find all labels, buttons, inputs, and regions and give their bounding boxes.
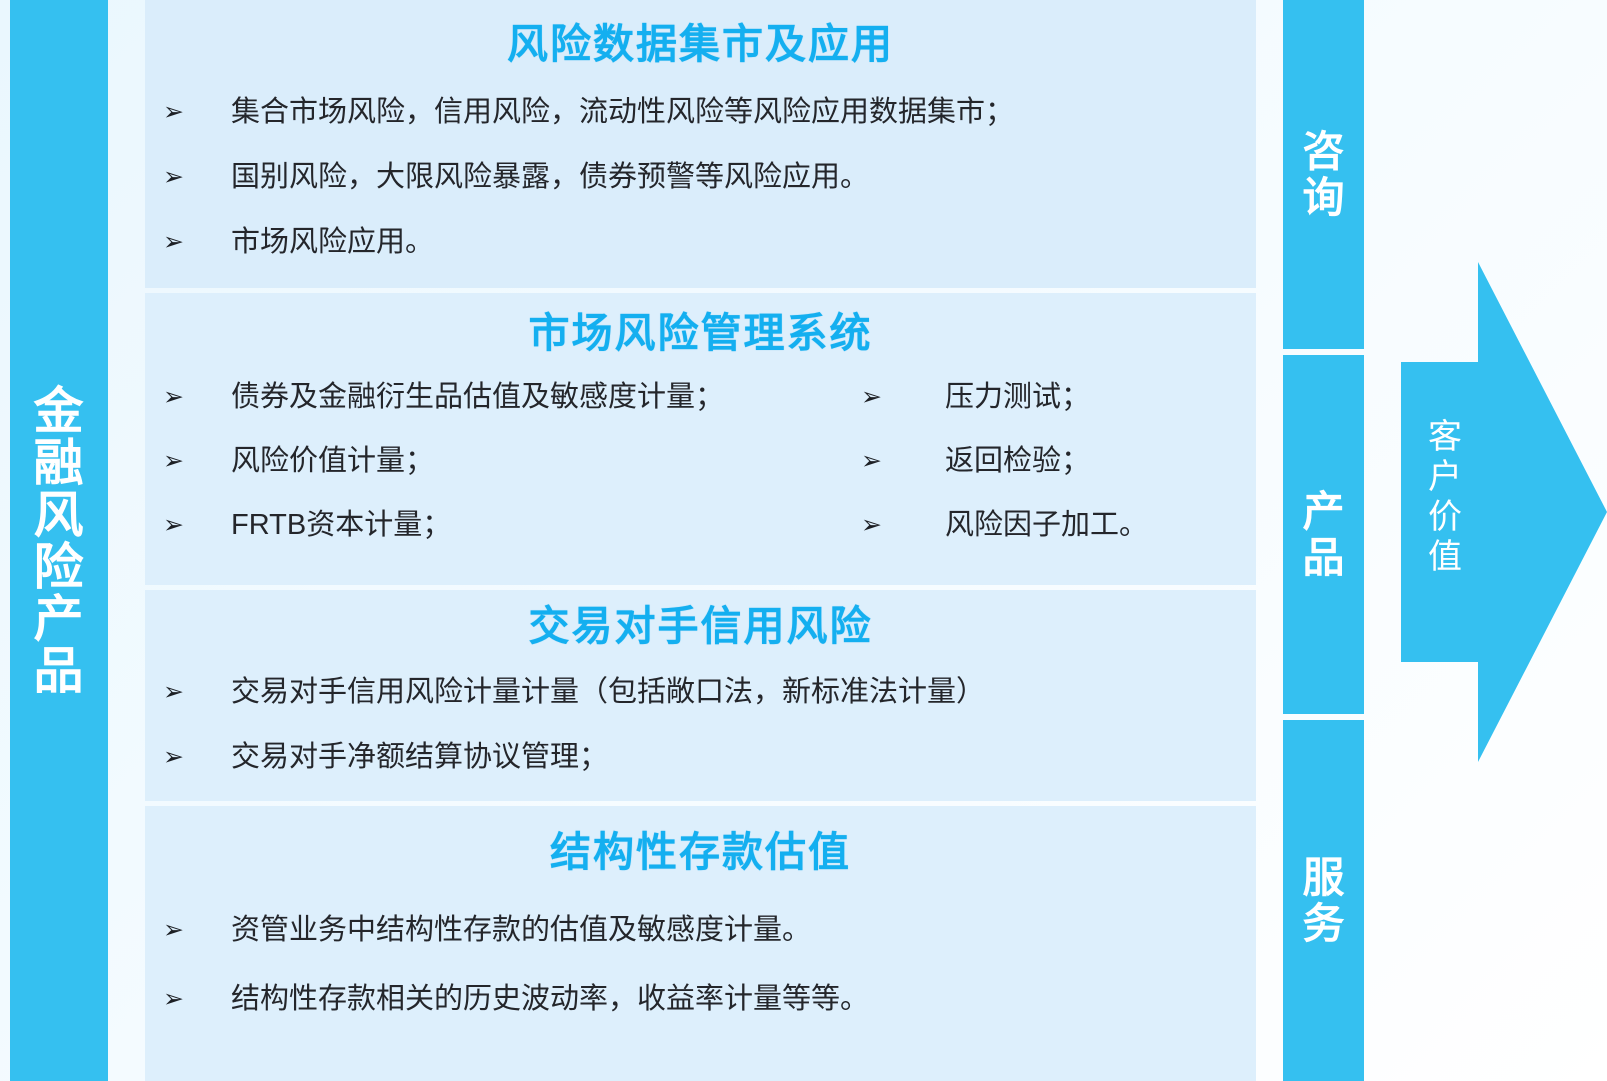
arrow-bullet-icon: ➢ bbox=[145, 162, 231, 192]
bullet-list-left: ➢ 债券及金融衍生品估值及敏感度计量； ➢ 风险价值计量； ➢ FRTB资本计量… bbox=[145, 380, 845, 571]
arrow-bullet-icon: ➢ bbox=[145, 510, 231, 540]
list-item-text: 交易对手净额结算协议管理； bbox=[231, 740, 1256, 775]
left-category-bar: 金融风险产品 bbox=[10, 0, 108, 1081]
panel-structured-deposit-valuation: 结构性存款估值 ➢ 资管业务中结构性存款的估值及敏感度计量。 ➢ 结构性存款相关… bbox=[145, 806, 1256, 1081]
slide-canvas: 金融风险产品 风险数据集市及应用 ➢ 集合市场风险，信用风险，流动性风险等风险应… bbox=[0, 0, 1607, 1081]
panel-title: 结构性存款估值 bbox=[145, 806, 1256, 875]
panel-market-risk-system: 市场风险管理系统 ➢ 债券及金融衍生品估值及敏感度计量； ➢ 风险价值计量； ➢… bbox=[145, 293, 1256, 585]
panel-risk-data-mart: 风险数据集市及应用 ➢ 集合市场风险，信用风险，流动性风险等风险应用数据集市； … bbox=[145, 0, 1256, 288]
stage-label: 咨询 bbox=[1301, 129, 1347, 220]
list-item-text: 市场风险应用。 bbox=[231, 225, 1256, 260]
list-item: ➢ 国别风险，大限风险暴露，债券预警等风险应用。 bbox=[145, 160, 1256, 195]
list-item: ➢ 风险价值计量； bbox=[145, 444, 845, 479]
panel-counterparty-credit-risk: 交易对手信用风险 ➢ 交易对手信用风险计量计量（包括敞口法，新标准法计量） ➢ … bbox=[145, 590, 1256, 801]
list-item-text: 资管业务中结构性存款的估值及敏感度计量。 bbox=[231, 913, 1256, 948]
list-item: ➢ 结构性存款相关的历史波动率，收益率计量等等。 bbox=[145, 982, 1256, 1017]
list-item: ➢ 返回检验； bbox=[845, 444, 1256, 479]
bullet-columns: ➢ 债券及金融衍生品估值及敏感度计量； ➢ 风险价值计量； ➢ FRTB资本计量… bbox=[145, 380, 1256, 571]
arrow-bullet-icon: ➢ bbox=[145, 97, 231, 127]
stage-label: 服务 bbox=[1301, 855, 1347, 946]
bullet-list: ➢ 集合市场风险，信用风险，流动性风险等风险应用数据集市； ➢ 国别风险，大限风… bbox=[145, 95, 1256, 259]
arrow-bullet-icon: ➢ bbox=[145, 984, 231, 1014]
stage-block-consulting: 咨询 bbox=[1283, 0, 1364, 349]
list-item-text: 债券及金融衍生品估值及敏感度计量； bbox=[231, 380, 845, 415]
arrow-bullet-icon: ➢ bbox=[145, 915, 231, 945]
arrow-bullet-icon: ➢ bbox=[145, 742, 231, 772]
list-item: ➢ FRTB资本计量； bbox=[145, 508, 845, 543]
list-item: ➢ 市场风险应用。 bbox=[145, 225, 1256, 260]
arrow-bullet-icon: ➢ bbox=[845, 510, 945, 540]
arrow-bullet-icon: ➢ bbox=[145, 227, 231, 257]
list-item: ➢ 债券及金融衍生品估值及敏感度计量； bbox=[145, 380, 845, 415]
arrow-bullet-icon: ➢ bbox=[145, 446, 231, 476]
arrow-bullet-icon: ➢ bbox=[845, 382, 945, 412]
list-item-text: FRTB资本计量； bbox=[231, 508, 845, 543]
list-item-text: 交易对手信用风险计量计量（包括敞口法，新标准法计量） bbox=[231, 675, 1256, 710]
list-item: ➢ 风险因子加工。 bbox=[845, 508, 1256, 543]
stage-block-service: 服务 bbox=[1283, 720, 1364, 1081]
bullet-list: ➢ 资管业务中结构性存款的估值及敏感度计量。 ➢ 结构性存款相关的历史波动率，收… bbox=[145, 913, 1256, 1017]
panel-title: 风险数据集市及应用 bbox=[145, 0, 1256, 67]
list-item: ➢ 交易对手净额结算协议管理； bbox=[145, 740, 1256, 775]
list-item-text: 集合市场风险，信用风险，流动性风险等风险应用数据集市； bbox=[231, 95, 1256, 130]
list-item-text: 返回检验； bbox=[945, 444, 1256, 479]
list-item: ➢ 压力测试； bbox=[845, 380, 1256, 415]
list-item: ➢ 交易对手信用风险计量计量（包括敞口法，新标准法计量） bbox=[145, 675, 1256, 710]
arrow-label: 客户价值 bbox=[1419, 417, 1471, 577]
list-item-text: 结构性存款相关的历史波动率，收益率计量等等。 bbox=[231, 982, 1256, 1017]
list-item-text: 风险价值计量； bbox=[231, 444, 845, 479]
list-item: ➢ 资管业务中结构性存款的估值及敏感度计量。 bbox=[145, 913, 1256, 948]
right-arrow-icon bbox=[1383, 262, 1607, 762]
bullet-list-right: ➢ 压力测试； ➢ 返回检验； ➢ 风险因子加工。 bbox=[845, 380, 1256, 571]
panel-title: 市场风险管理系统 bbox=[145, 293, 1256, 356]
stage-label: 产品 bbox=[1301, 489, 1347, 580]
left-category-label: 金融风险产品 bbox=[30, 385, 88, 697]
list-item-text: 压力测试； bbox=[945, 380, 1256, 415]
service-stage-column: 咨询 产品 服务 bbox=[1283, 0, 1364, 1081]
stage-block-product: 产品 bbox=[1283, 355, 1364, 714]
arrow-bullet-icon: ➢ bbox=[845, 446, 945, 476]
arrow-bullet-icon: ➢ bbox=[145, 677, 231, 707]
list-item-text: 风险因子加工。 bbox=[945, 508, 1256, 543]
bullet-list: ➢ 交易对手信用风险计量计量（包括敞口法，新标准法计量） ➢ 交易对手净额结算协… bbox=[145, 675, 1256, 775]
content-panels: 风险数据集市及应用 ➢ 集合市场风险，信用风险，流动性风险等风险应用数据集市； … bbox=[145, 0, 1256, 1081]
panel-title: 交易对手信用风险 bbox=[145, 590, 1256, 649]
list-item-text: 国别风险，大限风险暴露，债券预警等风险应用。 bbox=[231, 160, 1256, 195]
arrow-bullet-icon: ➢ bbox=[145, 382, 231, 412]
customer-value-arrow: 客户价值 bbox=[1383, 262, 1607, 762]
list-item: ➢ 集合市场风险，信用风险，流动性风险等风险应用数据集市； bbox=[145, 95, 1256, 130]
